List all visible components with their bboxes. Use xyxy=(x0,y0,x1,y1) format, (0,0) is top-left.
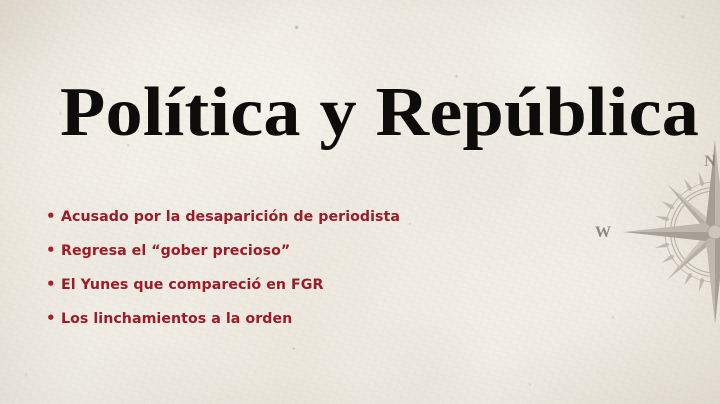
list-item-label: Los linchamientos a la orden xyxy=(61,302,292,336)
list-item-label: El Yunes que compareció en FGR xyxy=(61,268,323,302)
bullet-list: • Acusado por la desaparición de periodi… xyxy=(46,199,400,335)
bullet-point-icon: • xyxy=(46,199,61,233)
list-item: • Los linchamientos a la orden xyxy=(46,301,400,335)
list-item-label: Acusado por la desaparición de periodist… xyxy=(61,200,400,234)
list-item: • Acusado por la desaparición de periodi… xyxy=(46,199,400,233)
list-item: • Regresa el “gober precioso” xyxy=(46,233,400,267)
bullet-point-icon: • xyxy=(46,233,61,267)
bullet-point-icon: • xyxy=(46,301,61,335)
list-item-label: Regresa el “gober precioso” xyxy=(61,234,290,268)
slide-title: Política y República xyxy=(60,76,709,150)
list-item: • El Yunes que compareció en FGR xyxy=(46,267,400,301)
bullet-point-icon: • xyxy=(46,267,61,301)
slide-canvas: W N Política y República • Acusado por l… xyxy=(0,0,720,404)
